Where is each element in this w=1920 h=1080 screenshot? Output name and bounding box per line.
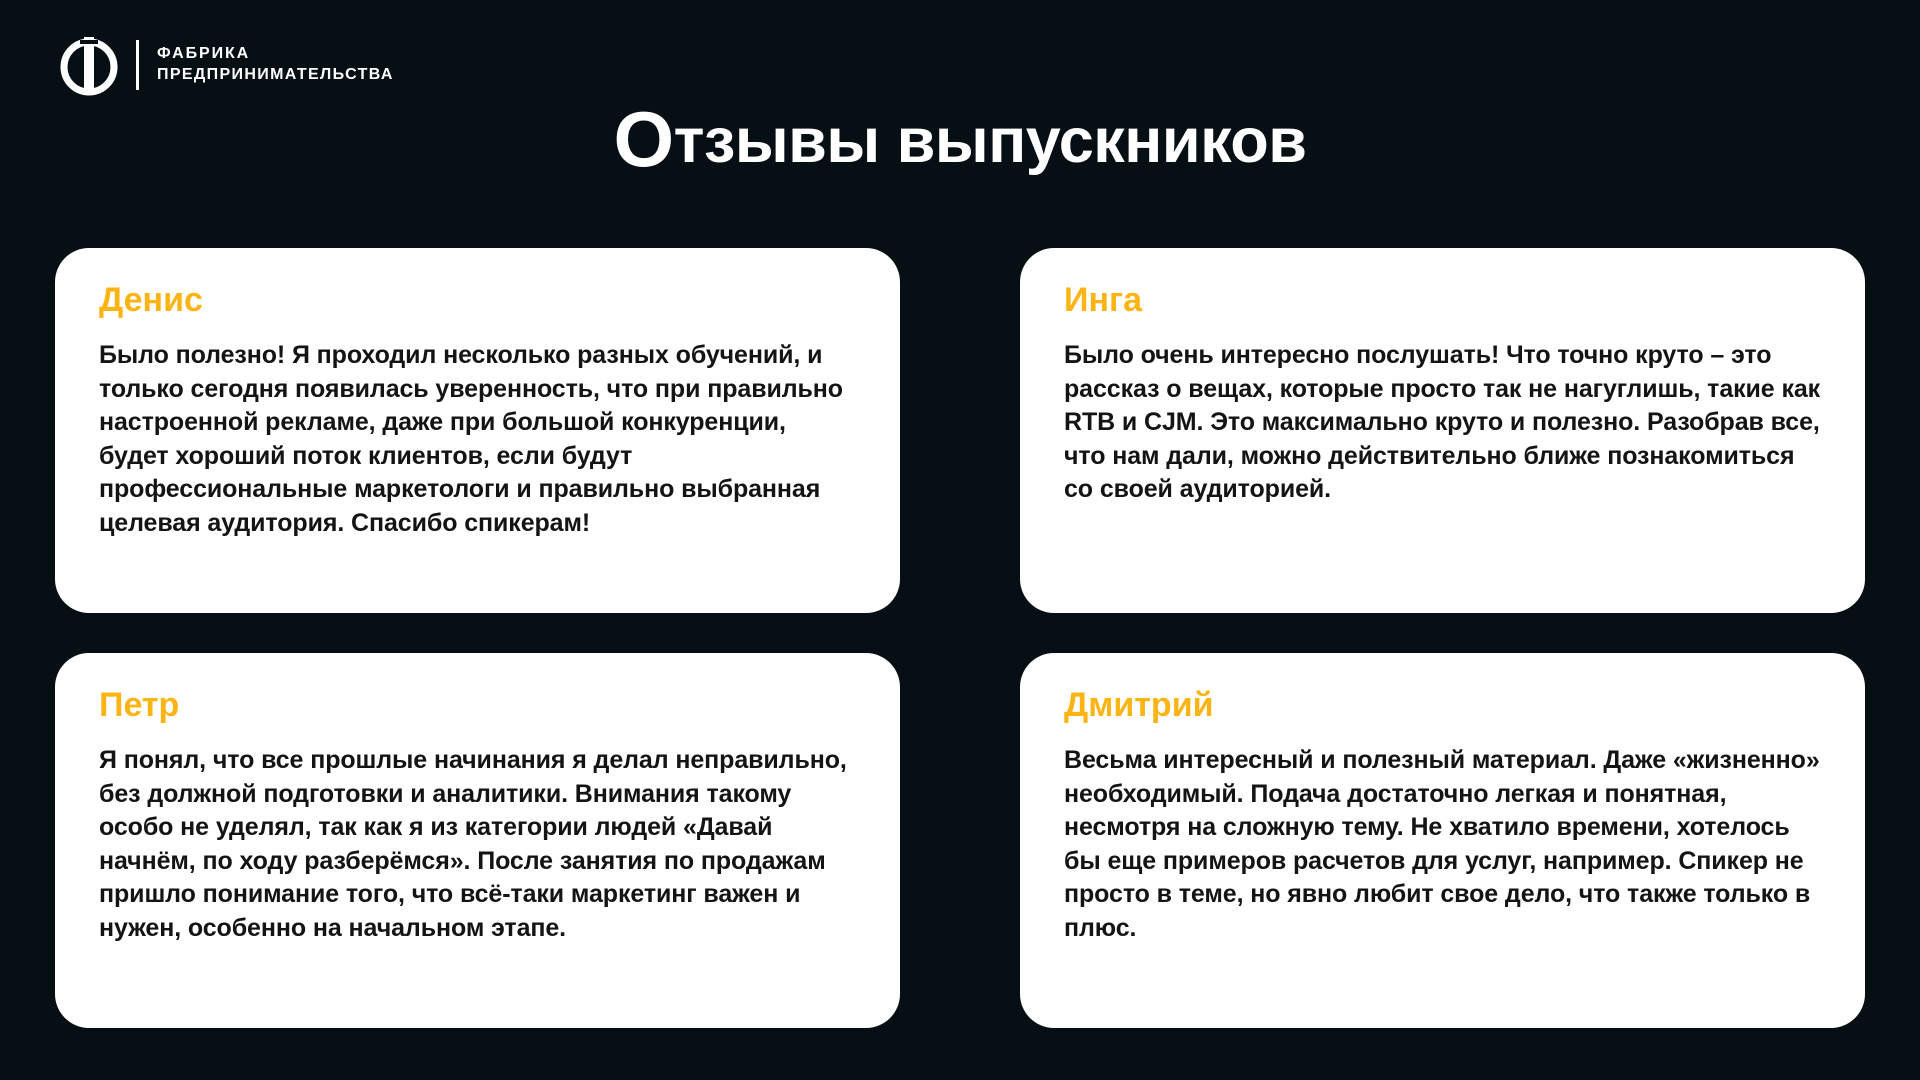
testimonial-name: Инга [1064, 282, 1821, 319]
brand-wordmark: ФАБРИКА ПРЕДПРИНИМАТЕЛЬСТВА [157, 46, 394, 84]
page-title-rest: тзывы выпускников [674, 106, 1307, 176]
testimonial-text: Было очень интересно послушать! Что точн… [1064, 339, 1821, 507]
brand-logo: ФАБРИКА ПРЕДПРИНИМАТЕЛЬСТВА [58, 34, 394, 96]
testimonial-name: Петр [99, 687, 856, 724]
testimonial-name: Дмитрий [1064, 687, 1821, 724]
testimonial-card-petr: Петр Я понял, что все прошлые начинания … [55, 653, 900, 1028]
testimonial-card-dmitriy: Дмитрий Весьма интересный и полезный мат… [1020, 653, 1865, 1028]
testimonial-name: Денис [99, 282, 856, 319]
testimonial-card-inga: Инга Было очень интересно послушать! Что… [1020, 248, 1865, 613]
page-title-cap: О [614, 95, 674, 183]
testimonial-text: Я понял, что все прошлые начинания я дел… [99, 744, 856, 945]
brand-divider [136, 40, 139, 90]
testimonial-card-denis: Денис Было полезно! Я проходил несколько… [55, 248, 900, 613]
fabrika-f-monogram-icon [58, 34, 120, 96]
testimonial-grid: Денис Было полезно! Я проходил несколько… [55, 248, 1865, 1028]
brand-line-2: ПРЕДПРИНИМАТЕЛЬСТВА [157, 67, 394, 84]
brand-line-1: ФАБРИКА [157, 46, 394, 63]
testimonial-text: Было полезно! Я проходил несколько разны… [99, 339, 856, 540]
testimonial-text: Весьма интересный и полезный материал. Д… [1064, 744, 1821, 945]
slide-root: ФАБРИКА ПРЕДПРИНИМАТЕЛЬСТВА Отзывы выпус… [0, 0, 1920, 1080]
page-title: Отзывы выпускников [0, 108, 1920, 173]
